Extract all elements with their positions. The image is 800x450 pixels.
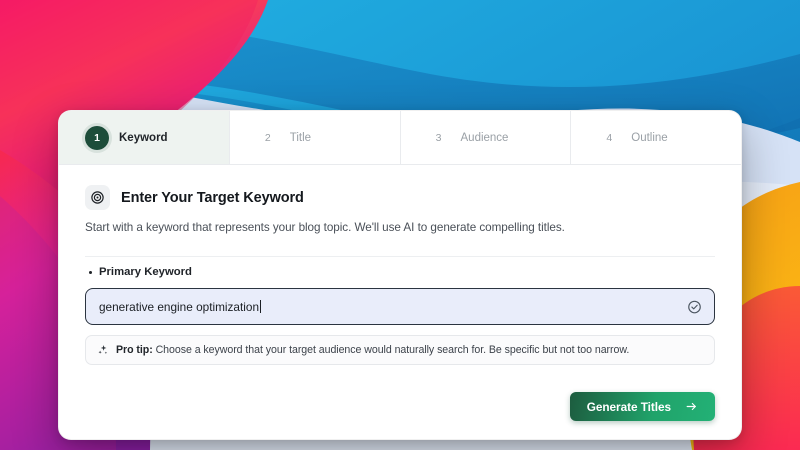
bullet-icon (89, 271, 92, 274)
card-footer: Generate Titles (85, 392, 715, 421)
step-title[interactable]: 2 Title (230, 111, 401, 164)
target-icon (85, 185, 110, 210)
step-audience-label: Audience (461, 132, 509, 144)
primary-keyword-label-text: Primary Keyword (99, 266, 192, 278)
generate-titles-label: Generate Titles (587, 400, 671, 414)
step-keyword-number: 1 (85, 126, 109, 150)
primary-keyword-label: Primary Keyword (85, 266, 715, 278)
text-caret (260, 300, 261, 313)
pro-tip-body: Choose a keyword that your target audien… (153, 344, 630, 356)
step-outline-number: 4 (597, 126, 621, 150)
pro-tip-banner: Pro tip: Choose a keyword that your targ… (85, 335, 715, 365)
arrow-right-icon (685, 400, 698, 413)
step-keyword-label: Keyword (119, 132, 168, 144)
step-title-number: 2 (256, 126, 280, 150)
wizard-card: 1 Keyword 2 Title 3 Audience 4 Outline (58, 110, 742, 440)
step-audience-number: 3 (427, 126, 451, 150)
generate-titles-button[interactable]: Generate Titles (570, 392, 715, 421)
divider (85, 256, 715, 257)
pro-tip-text: Pro tip: Choose a keyword that your targ… (116, 344, 629, 356)
stepper: 1 Keyword 2 Title 3 Audience 4 Outline (59, 111, 741, 165)
pro-tip-prefix: Pro tip: (116, 344, 153, 356)
check-circle-icon (687, 299, 702, 314)
sparkles-icon (97, 344, 109, 356)
section-header: Enter Your Target Keyword (85, 185, 715, 210)
screen: 1 Keyword 2 Title 3 Audience 4 Outline (0, 0, 800, 450)
step-outline-label: Outline (631, 132, 667, 144)
keyword-input-value: generative engine optimization (99, 300, 259, 314)
step-keyword[interactable]: 1 Keyword (59, 111, 230, 164)
step-title-label: Title (290, 132, 311, 144)
page-title: Enter Your Target Keyword (121, 190, 304, 206)
keyword-input[interactable]: generative engine optimization (85, 288, 715, 325)
card-body: Enter Your Target Keyword Start with a k… (59, 165, 741, 421)
section-subtitle: Start with a keyword that represents you… (85, 221, 715, 234)
step-outline[interactable]: 4 Outline (571, 111, 741, 164)
step-audience[interactable]: 3 Audience (401, 111, 572, 164)
